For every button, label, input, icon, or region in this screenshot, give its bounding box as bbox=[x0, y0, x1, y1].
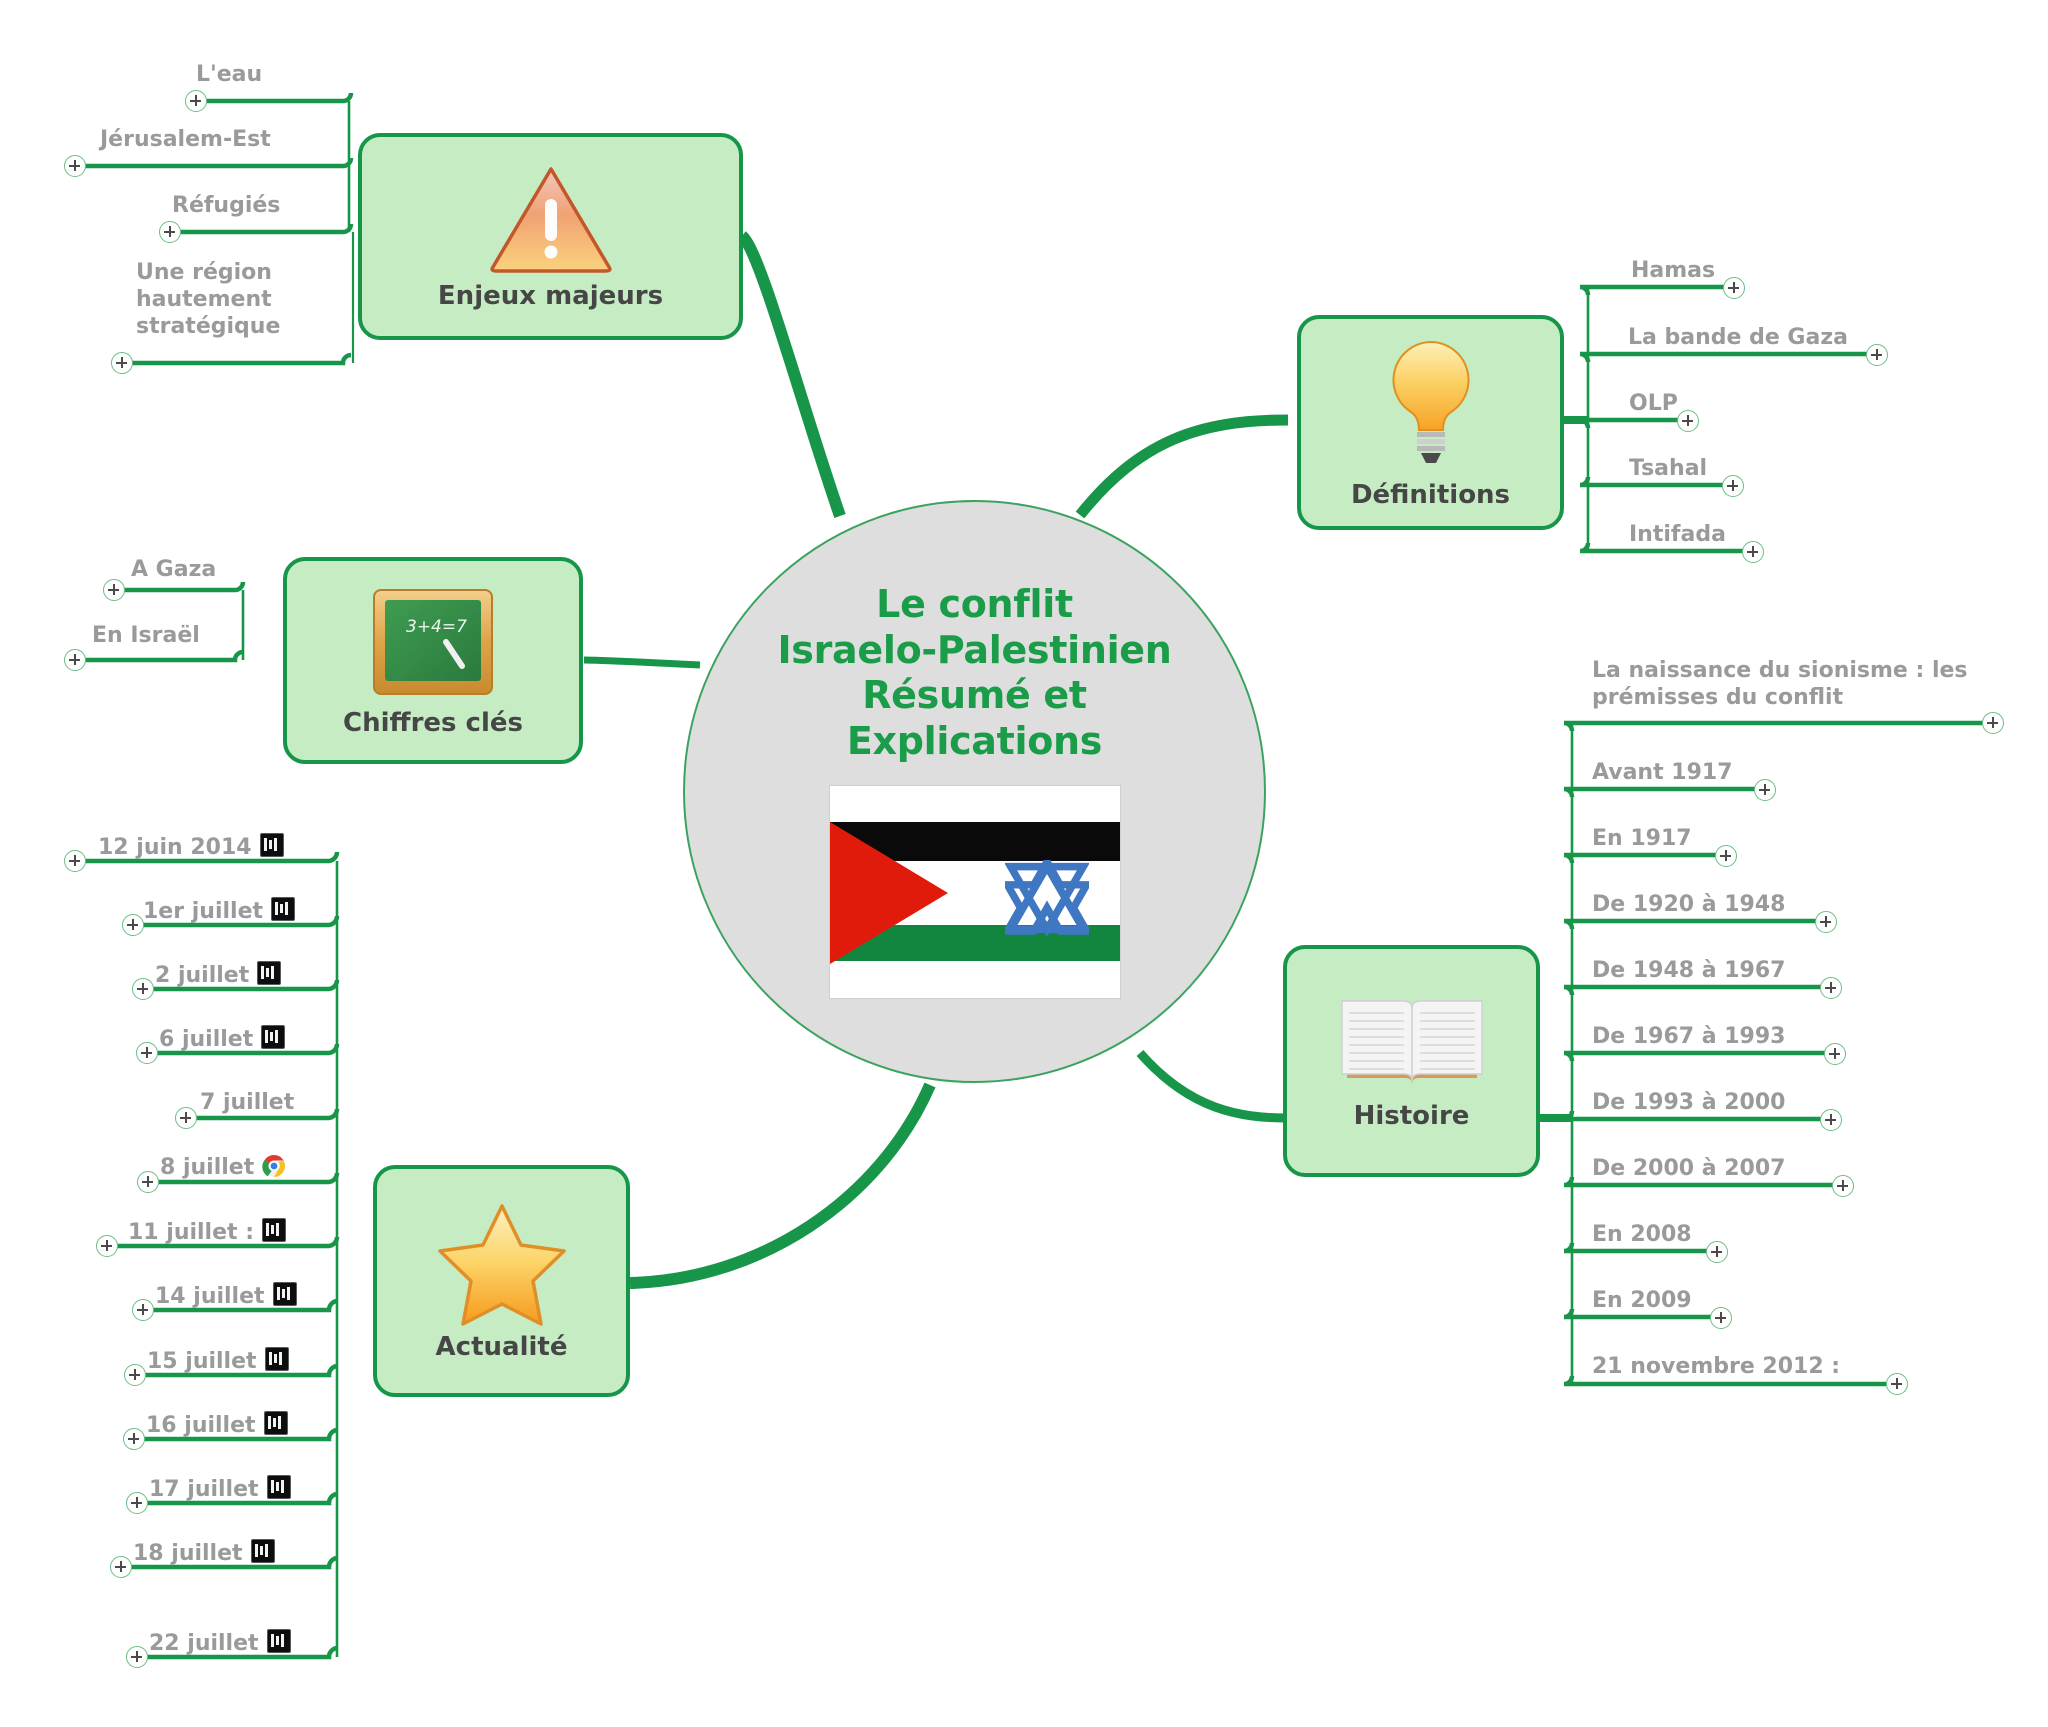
expand-icon[interactable] bbox=[1866, 344, 1888, 366]
leaf-8-juillet[interactable]: 8 juillet bbox=[160, 1154, 286, 1182]
leaf-17-juillet[interactable]: 17 juillet bbox=[149, 1475, 291, 1504]
favicon-dark-icon bbox=[267, 1475, 291, 1499]
expand-icon[interactable] bbox=[1820, 1109, 1842, 1131]
expand-icon[interactable] bbox=[137, 1171, 159, 1193]
lightbulb-icon bbox=[1376, 336, 1486, 474]
expand-icon[interactable] bbox=[1982, 712, 2004, 734]
leaf-14-juillet[interactable]: 14 juillet bbox=[155, 1282, 297, 1311]
expand-icon[interactable] bbox=[136, 1042, 158, 1064]
expand-icon[interactable] bbox=[1754, 779, 1776, 801]
israel-palestine-hybrid-flag-icon bbox=[830, 786, 1120, 998]
leaf-olp[interactable]: OLP bbox=[1629, 391, 1678, 418]
expand-icon[interactable] bbox=[1723, 277, 1745, 299]
expand-icon[interactable] bbox=[1742, 541, 1764, 563]
favicon-dark-icon bbox=[264, 1411, 288, 1435]
leaf-12-juin-2014[interactable]: 12 juin 2014 bbox=[98, 833, 284, 862]
central-topic[interactable]: Le conflit Israelo-Palestinien Résumé et… bbox=[683, 500, 1266, 1083]
expand-icon[interactable] bbox=[175, 1107, 197, 1129]
favicon-dark-icon bbox=[251, 1539, 275, 1563]
leaf-en-2008[interactable]: En 2008 bbox=[1592, 1222, 1692, 1249]
leaf-jerusalem-est[interactable]: Jérusalem-Est bbox=[100, 127, 271, 154]
expand-icon[interactable] bbox=[1832, 1175, 1854, 1197]
leaf-de-1993-a-2000[interactable]: De 1993 à 2000 bbox=[1592, 1090, 1785, 1117]
branch-label: Enjeux majeurs bbox=[438, 281, 663, 311]
expand-icon[interactable] bbox=[96, 1235, 118, 1257]
warning-triangle-icon bbox=[487, 163, 615, 275]
expand-icon[interactable] bbox=[103, 579, 125, 601]
favicon-dark-icon bbox=[267, 1629, 291, 1653]
flag-red-triangle bbox=[830, 822, 948, 964]
expand-icon[interactable] bbox=[132, 1299, 154, 1321]
expand-icon[interactable] bbox=[122, 914, 144, 936]
star-of-david-icon bbox=[1005, 860, 1089, 936]
favicon-dark-icon bbox=[273, 1282, 297, 1306]
leaf-15-juillet[interactable]: 15 juillet bbox=[147, 1347, 289, 1376]
expand-icon[interactable] bbox=[126, 1646, 148, 1668]
expand-icon[interactable] bbox=[123, 1428, 145, 1450]
expand-icon[interactable] bbox=[1706, 1241, 1728, 1263]
leaf-16-juillet[interactable]: 16 juillet bbox=[146, 1411, 288, 1440]
expand-icon[interactable] bbox=[64, 850, 86, 872]
leaf-avant-1917[interactable]: Avant 1917 bbox=[1592, 760, 1733, 787]
leaf-refugies[interactable]: Réfugiés bbox=[172, 193, 280, 220]
branch-label: Histoire bbox=[1354, 1101, 1470, 1131]
leaf-de-1948-a-1967[interactable]: De 1948 à 1967 bbox=[1592, 958, 1785, 985]
favicon-dark-icon bbox=[260, 833, 284, 857]
leaf-en-israel[interactable]: En Israël bbox=[92, 623, 200, 650]
expand-icon[interactable] bbox=[1722, 475, 1744, 497]
open-book-icon bbox=[1337, 991, 1487, 1095]
expand-icon[interactable] bbox=[1886, 1373, 1908, 1395]
expand-icon[interactable] bbox=[159, 221, 181, 243]
branch-node-enjeux-majeurs[interactable]: Enjeux majeurs bbox=[358, 133, 743, 340]
star-icon bbox=[436, 1200, 568, 1326]
expand-icon[interactable] bbox=[1710, 1307, 1732, 1329]
favicon-dark-icon bbox=[271, 897, 295, 921]
expand-icon[interactable] bbox=[111, 352, 133, 374]
branch-node-definitions[interactable]: Définitions bbox=[1297, 315, 1564, 530]
leaf-de-1967-a-1993[interactable]: De 1967 à 1993 bbox=[1592, 1024, 1785, 1051]
leaf-bande-de-gaza[interactable]: La bande de Gaza bbox=[1628, 325, 1848, 352]
mindmap-canvas: Le conflit Israelo-Palestinien Résumé et… bbox=[0, 0, 2048, 1727]
expand-icon[interactable] bbox=[132, 978, 154, 1000]
leaf-7-juillet[interactable]: 7 juillet bbox=[200, 1090, 294, 1117]
leaf-18-juillet[interactable]: 18 juillet bbox=[133, 1539, 275, 1568]
favicon-dark-icon bbox=[257, 961, 281, 985]
favicon-dark-icon bbox=[262, 1218, 286, 1242]
branch-node-chiffres-cles[interactable]: 3+4=7 Chiffres clés bbox=[283, 557, 583, 764]
leaf-21-novembre-2012[interactable]: 21 novembre 2012 : bbox=[1592, 1354, 1840, 1381]
branch-label: Actualité bbox=[436, 1332, 568, 1362]
leaf-a-gaza[interactable]: A Gaza bbox=[131, 557, 216, 584]
expand-icon[interactable] bbox=[185, 90, 207, 112]
leaf-region-strategique[interactable]: Une région hautement stratégique bbox=[136, 260, 311, 340]
branch-node-actualite[interactable]: Actualité bbox=[373, 1165, 630, 1397]
expand-icon[interactable] bbox=[124, 1364, 146, 1386]
leaf-22-juillet[interactable]: 22 juillet bbox=[149, 1629, 291, 1658]
page-title: Le conflit Israelo-Palestinien Résumé et… bbox=[777, 582, 1171, 764]
leaf-intifada[interactable]: Intifada bbox=[1629, 522, 1726, 549]
chrome-icon bbox=[262, 1154, 286, 1178]
favicon-dark-icon bbox=[261, 1025, 285, 1049]
branch-label: Définitions bbox=[1351, 480, 1510, 510]
leaf-tsahal[interactable]: Tsahal bbox=[1629, 456, 1707, 483]
branch-node-histoire[interactable]: Histoire bbox=[1283, 945, 1540, 1177]
leaf-en-1917[interactable]: En 1917 bbox=[1592, 826, 1692, 853]
expand-icon[interactable] bbox=[126, 1492, 148, 1514]
expand-icon[interactable] bbox=[64, 649, 86, 671]
favicon-dark-icon bbox=[265, 1347, 289, 1371]
leaf-de-1920-a-1948[interactable]: De 1920 à 1948 bbox=[1592, 892, 1785, 919]
blackboard-icon: 3+4=7 bbox=[368, 584, 498, 702]
leaf-leau[interactable]: L'eau bbox=[196, 62, 262, 89]
leaf-1er-juillet[interactable]: 1er juillet bbox=[143, 897, 295, 926]
expand-icon[interactable] bbox=[1677, 410, 1699, 432]
leaf-6-juillet[interactable]: 6 juillet bbox=[159, 1025, 285, 1054]
blackboard-text: 3+4=7 bbox=[406, 617, 467, 637]
leaf-naissance-sionisme[interactable]: La naissance du sionisme : les prémisses… bbox=[1592, 658, 1992, 712]
expand-icon[interactable] bbox=[110, 1556, 132, 1578]
expand-icon[interactable] bbox=[1820, 977, 1842, 999]
branch-label: Chiffres clés bbox=[343, 708, 523, 738]
leaf-2-juillet[interactable]: 2 juillet bbox=[155, 961, 281, 990]
leaf-hamas[interactable]: Hamas bbox=[1631, 258, 1715, 285]
expand-icon[interactable] bbox=[1815, 911, 1837, 933]
leaf-11-juillet[interactable]: 11 juillet : bbox=[128, 1218, 286, 1247]
expand-icon[interactable] bbox=[64, 155, 86, 177]
expand-icon[interactable] bbox=[1824, 1043, 1846, 1065]
leaf-en-2009[interactable]: En 2009 bbox=[1592, 1288, 1692, 1315]
expand-icon[interactable] bbox=[1715, 845, 1737, 867]
leaf-de-2000-a-2007[interactable]: De 2000 à 2007 bbox=[1592, 1156, 1785, 1183]
